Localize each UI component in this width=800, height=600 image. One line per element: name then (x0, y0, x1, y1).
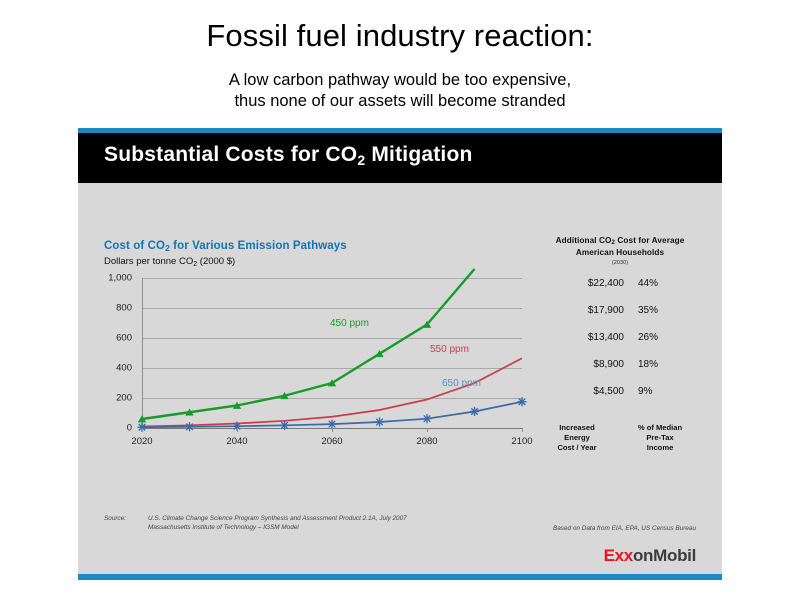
source-footnote: Source: U.S. Climate Change Science Prog… (104, 515, 407, 532)
household-footer-pct-l2: Pre-Tax (624, 433, 696, 443)
chart-marker-star (470, 407, 479, 416)
page-subtitle-line-1: A low carbon pathway would be too expens… (0, 70, 800, 91)
chart-plot-wrapper: 02004006008001,000 450 ppm550 ppm650 ppm… (104, 278, 534, 443)
chart-axis-units: Dollars per tonne CO2 (2000 $) (104, 256, 544, 268)
household-income-pct: 18% (638, 359, 700, 370)
page-subtitle-line-2: thus none of our assets will become stra… (0, 91, 800, 112)
page-subtitle: A low carbon pathway would be too expens… (0, 70, 800, 112)
exxonmobil-logo-dark: onMobil (633, 546, 696, 565)
x-axis-tick-mark (522, 428, 523, 432)
accent-rule-bottom (78, 574, 722, 580)
exxonmobil-logo: ExxonMobil (604, 546, 696, 566)
household-row: $22,40044% (530, 278, 710, 305)
household-footer-pct: % of Median Pre-Tax Income (624, 423, 696, 453)
y-axis-tick-label: 400 (72, 363, 132, 374)
household-footer-pct-l1: % of Median (624, 423, 696, 433)
household-row: $17,90035% (530, 305, 710, 332)
chart-subtitle-tail: (2000 $) (197, 256, 235, 267)
household-annual-cost: $13,400 (530, 332, 638, 343)
page-title: Fossil fuel industry reaction: (0, 18, 800, 54)
x-axis-tick-mark (237, 428, 238, 432)
chart-subtitle-main: Dollars per tonne CO (104, 256, 193, 267)
household-annual-cost: $8,900 (530, 359, 638, 370)
household-column-footers: Increased Energy Cost / Year % of Median… (530, 423, 710, 453)
household-income-pct: 9% (638, 386, 700, 397)
household-annual-cost: $22,400 (530, 278, 638, 289)
chart-title-main: Cost of CO (104, 240, 165, 252)
exxon-banner: Substantial Costs for CO2 Mitigation (78, 133, 722, 183)
y-axis-tick-label: 600 (72, 333, 132, 344)
household-title-main: Additional CO (556, 236, 612, 245)
x-axis-tick-label: 2020 (112, 436, 172, 447)
y-axis-tick-label: 200 (72, 393, 132, 404)
chart-series-label-550-ppm: 550 ppm (430, 344, 469, 355)
source-footnote-line-1: U.S. Climate Change Science Program Synt… (148, 515, 407, 524)
x-axis-tick-label: 2040 (207, 436, 267, 447)
source-footnote-body: U.S. Climate Change Science Program Synt… (148, 515, 407, 532)
source-footnote-line-2: Massachusetts Institute of Technology – … (148, 524, 407, 533)
chart-marker-star (517, 397, 526, 406)
household-footer-cost: Increased Energy Cost / Year (530, 423, 624, 453)
household-title-line-2: American Households (576, 248, 664, 257)
chart-marker-star (280, 421, 289, 430)
household-footer-cost-l3: Cost / Year (530, 443, 624, 453)
y-axis-tick-label: 0 (72, 423, 132, 434)
household-footer-pct-l3: Income (624, 443, 696, 453)
x-axis-tick-label: 2080 (397, 436, 457, 447)
x-axis-tick-mark (427, 428, 428, 432)
household-income-pct: 26% (638, 332, 700, 343)
household-annual-cost: $4,500 (530, 386, 638, 397)
exxon-banner-title: Substantial Costs for CO2 Mitigation (104, 143, 473, 168)
x-axis-tick-mark (142, 428, 143, 432)
chart-marker-star (375, 417, 384, 426)
chart-line-550-ppm (142, 358, 522, 426)
exxon-banner-title-main: Substantial Costs for CO (104, 143, 357, 166)
chart-series-label-450-ppm: 450 ppm (330, 318, 369, 329)
chart-marker-star (422, 414, 431, 423)
household-panel-title: Additional CO2 Cost for AverageAmerican … (530, 236, 710, 258)
household-row: $8,90018% (530, 359, 710, 386)
household-row: $4,5009% (530, 386, 710, 413)
household-income-pct: 44% (638, 278, 700, 289)
chart-block: Cost of CO2 for Various Emission Pathway… (104, 240, 544, 443)
chart-title: Cost of CO2 for Various Emission Pathway… (104, 240, 544, 253)
household-annual-cost: $17,900 (530, 305, 638, 316)
household-title-tail: Cost for Average (615, 236, 684, 245)
x-axis-tick-label: 2060 (302, 436, 362, 447)
exxonmobil-logo-red: Exx (604, 546, 633, 565)
data-source-footnote: Based on Data from EIA, EPA, US Census B… (553, 525, 696, 532)
household-footer-cost-l1: Increased (530, 423, 624, 433)
chart-title-tail: for Various Emission Pathways (170, 240, 347, 252)
y-axis-tick-label: 1,000 (72, 273, 132, 284)
household-year-note: (2030) (530, 260, 710, 266)
household-footer-cost-l2: Energy (530, 433, 624, 443)
household-cost-panel: Additional CO2 Cost for AverageAmerican … (530, 236, 710, 453)
y-axis-tick-label: 800 (72, 303, 132, 314)
chart-plot-area: 450 ppm550 ppm650 ppm 202020402060208021… (142, 278, 522, 428)
x-axis-tick-mark (332, 428, 333, 432)
chart-series-label-650-ppm: 650 ppm (442, 378, 481, 389)
chart-marker-star (185, 422, 194, 431)
exxon-banner-title-tail: Mitigation (365, 143, 472, 166)
source-footnote-label: Source: (104, 515, 148, 532)
chart-line-450-ppm (142, 269, 475, 419)
household-row: $13,40026% (530, 332, 710, 359)
household-rows: $22,40044%$17,90035%$13,40026%$8,90018%$… (530, 278, 710, 413)
household-income-pct: 35% (638, 305, 700, 316)
exxon-slide-card: Substantial Costs for CO2 Mitigation Cos… (78, 128, 722, 580)
